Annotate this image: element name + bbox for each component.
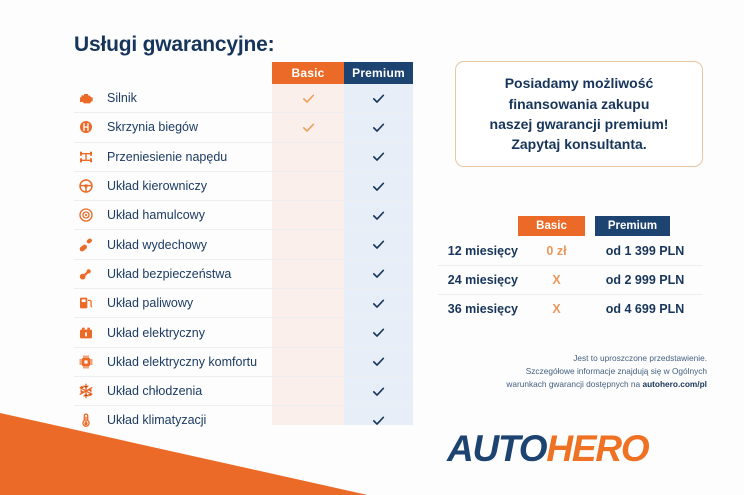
table-header-basic: Basic	[272, 62, 344, 84]
right-panel: Posiadamy możliwość finansowania zakupu …	[430, 0, 744, 495]
warranty-cell-basic	[272, 230, 344, 258]
warranty-row: Układ bezpieczeństwa	[74, 260, 413, 289]
pricing-row: 36 miesięcyXod 4 699 PLN	[438, 295, 703, 323]
pricing-term: 36 miesięcy	[438, 302, 518, 316]
warranty-cell-basic	[272, 289, 344, 317]
warranty-cell-premium	[344, 172, 413, 200]
warranty-row: Silnik	[74, 84, 413, 113]
logo-auto: AUTO	[447, 428, 546, 469]
financing-line-3: naszej gwarancji premium!	[490, 116, 669, 132]
pricing-rows: 12 miesięcy0 złod 1 399 PLN24 miesięcyXo…	[438, 237, 703, 323]
warranty-cell-basic	[272, 201, 344, 229]
warranty-cell-premium	[344, 318, 413, 346]
snowflake-icon	[76, 381, 96, 401]
battery-icon	[76, 323, 96, 343]
pricing-value-basic: X	[518, 302, 595, 316]
pricing-row: 12 miesięcy0 złod 1 399 PLN	[438, 237, 703, 266]
warranty-row-label: Układ paliwowy	[107, 296, 193, 310]
drivetrain-icon	[76, 147, 96, 167]
warranty-cell-basic	[272, 143, 344, 171]
warranty-row-label: Silnik	[107, 91, 137, 105]
warranty-row-label: Układ hamulcowy	[107, 208, 205, 222]
airbag-safety-icon	[76, 264, 96, 284]
warranty-row: Przeniesienie napędu	[74, 143, 413, 172]
warranty-row: Układ wydechowy	[74, 230, 413, 259]
warranty-cell-basic	[272, 260, 344, 288]
steering-wheel-icon	[76, 176, 96, 196]
gearbox-icon	[76, 117, 96, 137]
fineprint-line-2: Szczegółowe informacje znajdują się w Og…	[526, 366, 707, 376]
pricing-value-basic: X	[518, 273, 595, 287]
warranty-rows: SilnikSkrzynia biegówPrzeniesienie napęd…	[74, 84, 413, 435]
exhaust-icon	[76, 235, 96, 255]
warranty-cell-basic	[272, 348, 344, 376]
warranty-row: Układ hamulcowy	[74, 201, 413, 230]
pricing-term: 24 miesięcy	[438, 273, 518, 287]
table-header-premium: Premium	[344, 62, 413, 84]
warranty-cell-premium	[344, 201, 413, 229]
warranty-row: Układ elektryczny	[74, 318, 413, 347]
logo-hero: HERO	[546, 428, 648, 469]
pricing-row: 24 miesięcyXod 2 999 PLN	[438, 266, 703, 295]
fineprint-disclaimer: Jest to uproszczone przedstawienie. Szcz…	[435, 352, 707, 391]
fineprint-line-3: warunkach gwarancji dostępnych na	[506, 379, 642, 389]
financing-line-1: Posiadamy możliwość	[505, 75, 654, 91]
warranty-row: Układ klimatyzacji	[74, 406, 413, 434]
warranty-row: Układ elektryczny komfortu	[74, 348, 413, 377]
warranty-cell-premium	[344, 84, 413, 112]
pricing-value-premium: od 4 699 PLN	[595, 302, 695, 316]
warranty-cell-basic	[272, 84, 344, 112]
pricing-value-premium: od 1 399 PLN	[595, 244, 695, 258]
fuel-pump-icon	[76, 293, 96, 313]
warranty-cell-premium	[344, 377, 413, 405]
warranty-cell-premium	[344, 348, 413, 376]
warranty-row: Układ paliwowy	[74, 289, 413, 318]
pricing-header-basic: Basic	[518, 216, 585, 236]
pricing-value-premium: od 2 999 PLN	[595, 273, 695, 287]
warranty-cell-basic	[272, 377, 344, 405]
warranty-row-label: Skrzynia biegów	[107, 120, 198, 134]
financing-callout-box: Posiadamy możliwość finansowania zakupu …	[455, 61, 703, 167]
warranty-row-label: Układ kierowniczy	[107, 179, 207, 193]
warranty-row-label: Układ chłodzenia	[107, 384, 202, 398]
warranty-row: Skrzynia biegów	[74, 113, 413, 142]
engine-icon	[76, 88, 96, 108]
warranty-table-section: Usługi gwarancyjne: Basic Premium Silnik…	[0, 0, 430, 440]
warranty-row-label: Układ wydechowy	[107, 238, 207, 252]
pricing-value-basic: 0 zł	[518, 244, 595, 258]
warranty-cell-premium	[344, 113, 413, 141]
warranty-cell-premium	[344, 406, 413, 434]
financing-callout-text: Posiadamy możliwość finansowania zakupu …	[490, 73, 669, 154]
warranty-cell-premium	[344, 289, 413, 317]
financing-line-2: finansowania zakupu	[509, 96, 650, 112]
warranty-cell-basic	[272, 172, 344, 200]
chip-icon	[76, 352, 96, 372]
warranty-row: Układ chłodzenia	[74, 377, 413, 406]
warranty-row-label: Układ elektryczny komfortu	[107, 355, 257, 369]
financing-line-4: Zapytaj konsultanta.	[511, 136, 646, 152]
fineprint-line-1: Jest to uproszczone przedstawienie.	[573, 353, 707, 363]
warranty-cell-premium	[344, 230, 413, 258]
fineprint-url: autohero.com/pl	[642, 379, 707, 389]
thermometer-icon	[76, 410, 96, 430]
pricing-term: 12 miesięcy	[438, 244, 518, 258]
warranty-row: Układ kierowniczy	[74, 172, 413, 201]
page-title: Usługi gwarancyjne:	[74, 33, 274, 57]
warranty-cell-premium	[344, 260, 413, 288]
brake-disc-icon	[76, 205, 96, 225]
warranty-row-label: Przeniesienie napędu	[107, 150, 227, 164]
warranty-row-label: Układ bezpieczeństwa	[107, 267, 231, 281]
warranty-row-label: Układ klimatyzacji	[107, 413, 206, 427]
warranty-cell-premium	[344, 143, 413, 171]
pricing-header-premium: Premium	[595, 216, 670, 236]
autohero-logo: AUTOHERO	[447, 428, 648, 470]
warranty-cell-basic	[272, 318, 344, 346]
warranty-infographic: Usługi gwarancyjne: Basic Premium Silnik…	[0, 0, 744, 495]
warranty-cell-basic	[272, 113, 344, 141]
warranty-row-label: Układ elektryczny	[107, 326, 205, 340]
warranty-cell-basic	[272, 406, 344, 434]
